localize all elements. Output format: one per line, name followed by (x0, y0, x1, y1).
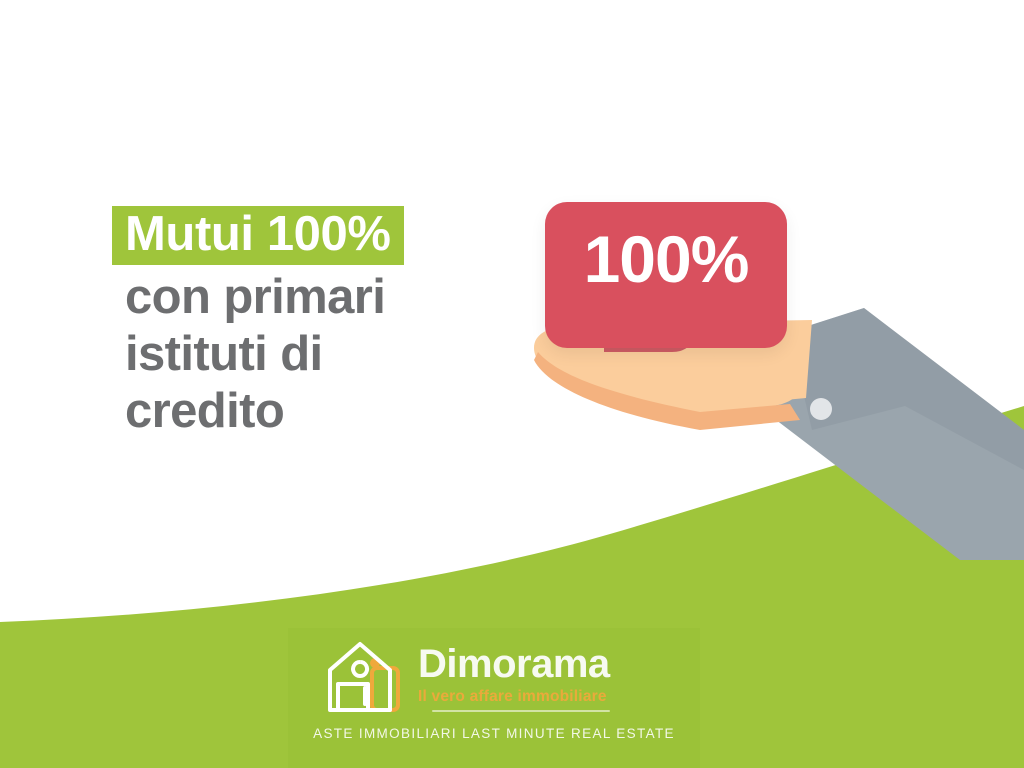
logo-brand: Dimorama (418, 644, 610, 684)
logo-rule (432, 710, 610, 712)
house-key-circle (353, 662, 367, 676)
house-accent-rect (372, 668, 398, 710)
percent-card: 100% (545, 202, 787, 348)
logo-lockup: Dimorama Il vero affare immobiliare ASTE… (288, 628, 700, 760)
promo-banner: 100% Mutui 100% con primari istituti di … (0, 0, 1024, 768)
headline-line-1: con primari (125, 269, 555, 325)
cuff-button-icon (810, 398, 832, 420)
logo-row: Dimorama Il vero affare immobiliare (324, 636, 610, 718)
logo-wordmark-group: Dimorama Il vero affare immobiliare (418, 642, 610, 712)
house-outline-icon (324, 636, 410, 718)
headline-line-2: istituti di (125, 326, 555, 382)
percent-card-label: 100% (545, 224, 787, 294)
logo-footline: ASTE IMMOBILIARI LAST MINUTE REAL ESTATE (288, 726, 700, 742)
logo-tagline: Il vero affare immobiliare (418, 687, 610, 707)
headline-highlight: Mutui 100% (112, 206, 404, 265)
headline-line-3: credito (125, 383, 555, 439)
headline-block: Mutui 100% con primari istituti di credi… (125, 206, 555, 439)
headline-subline-group: con primari istituti di credito (125, 269, 555, 439)
headline-highlight-row: Mutui 100% (125, 206, 555, 265)
